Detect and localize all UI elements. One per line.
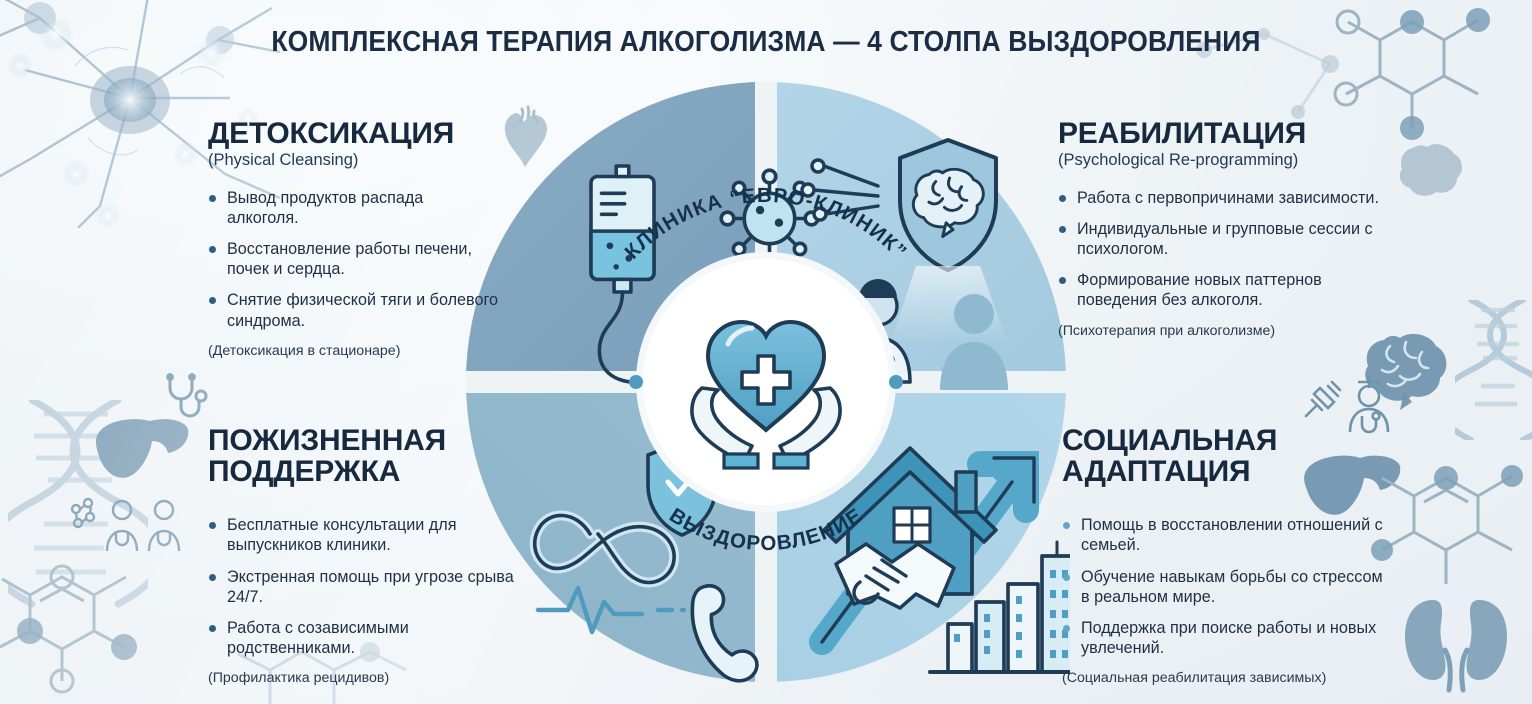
kidney-icon [1395, 580, 1515, 700]
list-item: Бесплатные консультации для выпускников … [208, 515, 528, 555]
dna-helix-icon [8, 400, 148, 610]
pillar-support-bullets: Бесплатные консультации для выпускников … [208, 515, 528, 657]
list-item: Экстренная помощь при угрозе срыва 24/7. [208, 567, 528, 607]
page-title: КОМПЛЕКСНАЯ ТЕРАПИЯ АЛКОГОЛИЗМА — 4 СТОЛ… [54, 26, 1479, 59]
list-item: Снятие физической тяги и болевого синдро… [208, 290, 498, 330]
molecule-hexagon-icon [1370, 440, 1532, 610]
liver-icon [92, 415, 192, 485]
list-item: Обучение навыкам борьбы со стрессом в ре… [1062, 567, 1392, 607]
list-item: Поддержка при поиске работы и новых увле… [1062, 618, 1392, 658]
pillar-support-note: (Профилактика рецидивов) [208, 670, 528, 686]
pillar-support-heading: ПОЖИЗНЕННАЯ ПОДДЕРЖКА [208, 425, 528, 487]
pillar-detox-note: (Детоксикация в стационаре) [208, 343, 498, 359]
list-item: Восстановление работы печени, почек и се… [208, 239, 498, 279]
list-item: Формирование новых паттернов поведения б… [1058, 270, 1388, 310]
molecule-hexagon-icon [0, 555, 175, 704]
pillar-rehab-note: (Психотерапия при алкоголизме) [1058, 323, 1388, 339]
pillar-rehab-subheading: (Psychological Re-programming) [1058, 151, 1388, 170]
pillar-social-bullets: Помощь в восстановлении отношений с семь… [1062, 515, 1392, 657]
list-item: Работа с первопричинами зависимости. [1058, 188, 1388, 208]
pillar-rehab-heading: РЕАБИЛИТАЦИЯ [1058, 118, 1388, 149]
list-item: Помощь в восстановлении отношений с семь… [1062, 515, 1392, 555]
pillar-social-note: (Социальная реабилитация зависимых) [1062, 670, 1392, 686]
pillar-rehab-bullets: Работа с первопричинами зависимости. Инд… [1058, 188, 1388, 310]
pillar-social-heading: СОЦИАЛЬНАЯ АДАПТАЦИЯ [1062, 425, 1392, 487]
brain-icon [1395, 140, 1465, 202]
dna-helix-icon [1455, 300, 1532, 440]
list-item: Работа с созависимыми родственниками. [208, 618, 528, 658]
pillar-rehab-block: РЕАБИЛИТАЦИЯ (Psychological Re-programmi… [1058, 118, 1388, 353]
syringe-icon [1300, 378, 1344, 422]
pillar-social-block: СОЦИАЛЬНАЯ АДАПТАЦИЯ Помощь в восстановл… [1062, 425, 1392, 700]
pillar-support-block: ПОЖИЗНЕННАЯ ПОДДЕРЖКА Бесплатные консуль… [208, 425, 528, 700]
doctor-avatar-icon [60, 495, 190, 555]
stethoscope-icon [160, 372, 212, 424]
list-item: Вывод продуктов распада алкоголя. [208, 188, 498, 228]
pillar-detox-subheading: (Physical Cleansing) [208, 151, 498, 170]
list-item: Индивидуальные и групповые сессии с псих… [1058, 219, 1388, 259]
pillar-detox-block: ДЕТОКСИКАЦИЯ (Physical Cleansing) Вывод … [208, 118, 498, 373]
pillar-detox-heading: ДЕТОКСИКАЦИЯ [208, 118, 498, 149]
pillar-detox-bullets: Вывод продуктов распада алкоголя. Восста… [208, 188, 498, 330]
infographic-canvas: КОМПЛЕКСНАЯ ТЕРАПИЯ АЛКОГОЛИЗМА — 4 СТОЛ… [0, 0, 1532, 704]
four-pillar-wheel: КЛИНИКА “ЕВРО-КЛИНИК” ВЫЗДОРОВЛЕНИЕ [462, 78, 1070, 686]
